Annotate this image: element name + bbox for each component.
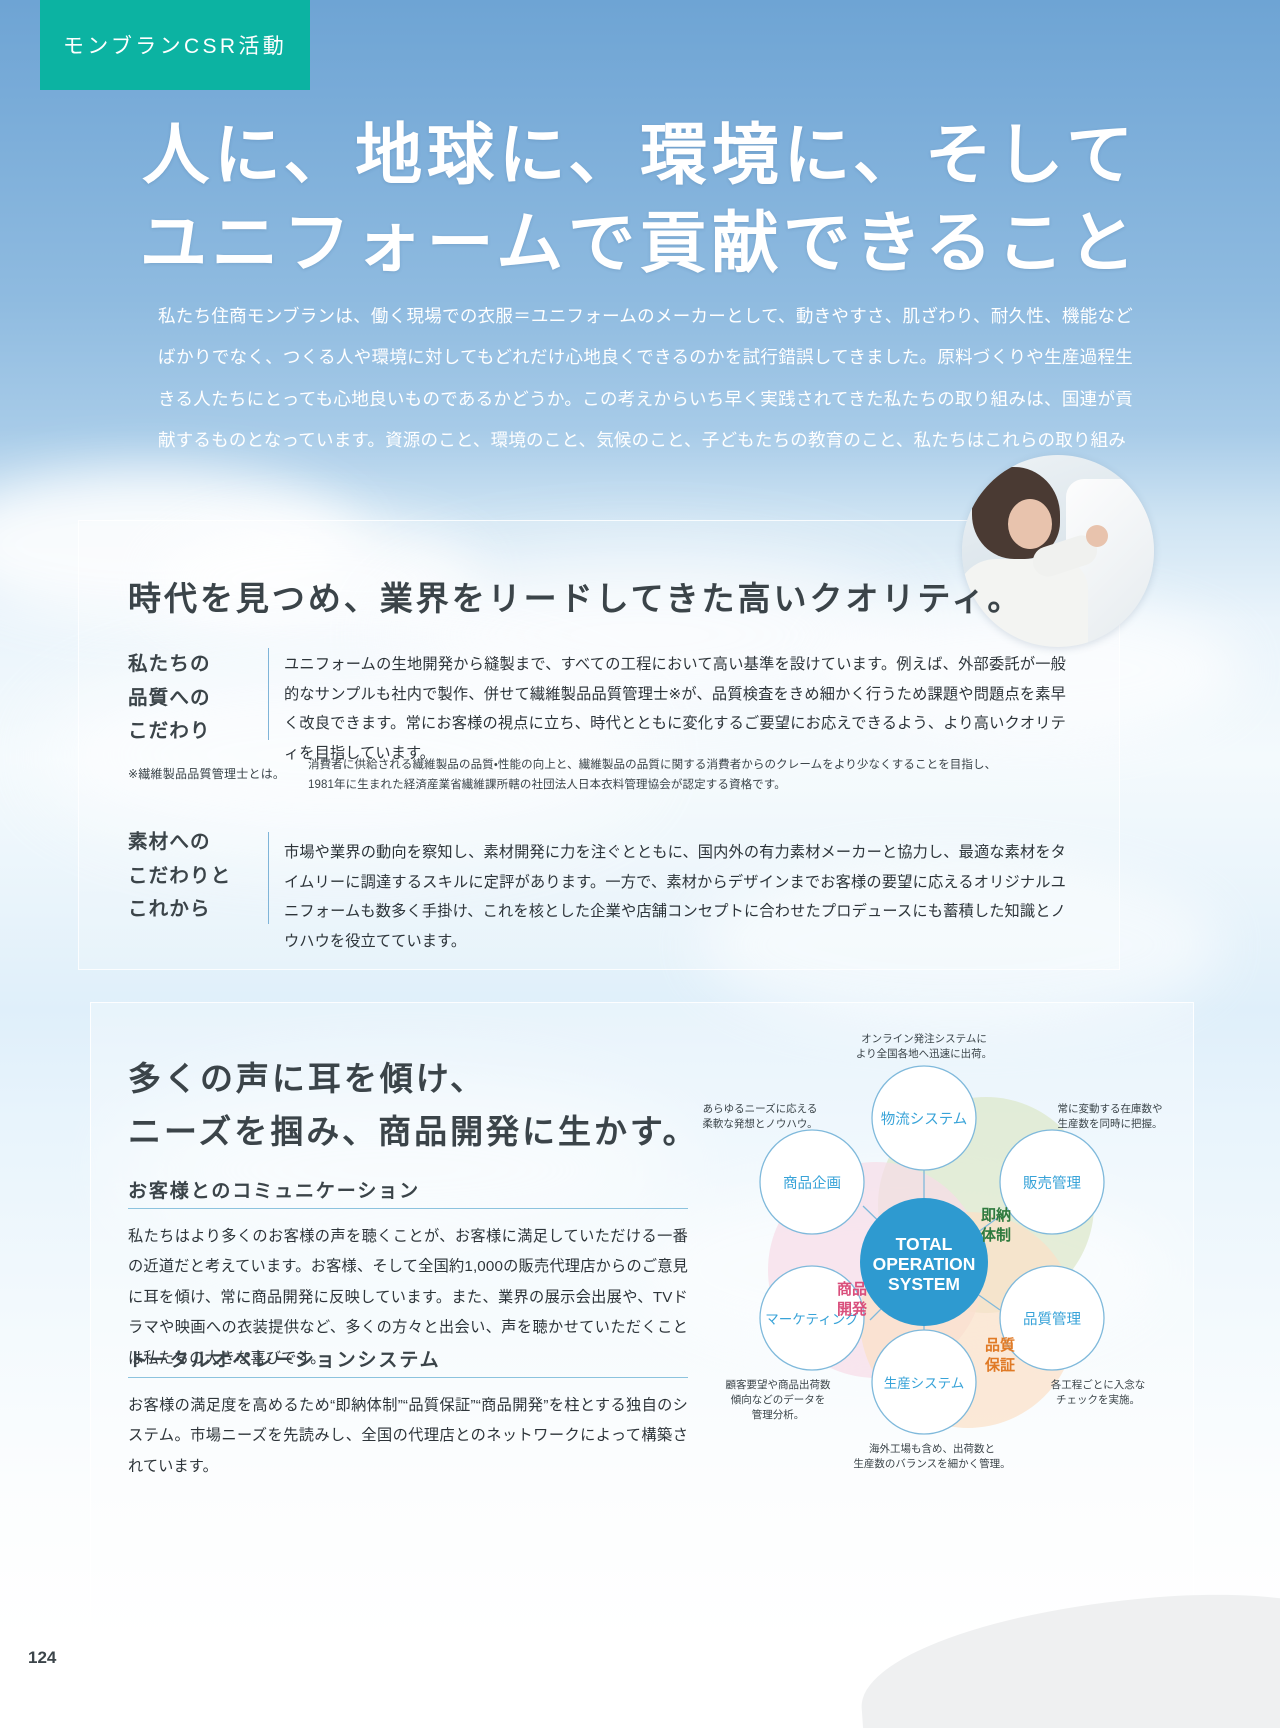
node-sales-management-label: 販売管理 bbox=[1023, 1174, 1081, 1192]
caption-production-line2: 生産数のバランスを細かく管理。 bbox=[853, 1457, 1010, 1470]
caption-logistics-line2: より全国各地へ迅速に出荷。 bbox=[856, 1047, 992, 1060]
voice-heading-line2: ニーズを掴み、商品開発に生かす。 bbox=[128, 1113, 699, 1150]
intro-paragraph: 私たち住商モンブランは、働く現場での衣服＝ユニフォームのメーカーとして、動きやす… bbox=[158, 296, 1133, 461]
pillar-quality-assurance-line1: 品質 bbox=[985, 1336, 1015, 1354]
csr-badge: モンブランCSR活動 bbox=[40, 0, 310, 90]
center-label-line1: TOTAL bbox=[896, 1234, 953, 1254]
caption-planning-line1: あらゆるニーズに応える bbox=[703, 1102, 818, 1115]
voice-section-title-2: トータルオペレーションシステム bbox=[128, 1345, 441, 1372]
quality-side-heading-2: 素材への こだわりと これから bbox=[128, 826, 258, 927]
footnote-label: ※繊維製品品質管理士とは。 bbox=[128, 765, 285, 782]
center-label-line3: SYSTEM bbox=[888, 1274, 960, 1294]
caption-production-line1: 海外工場も含め、出荷数と bbox=[869, 1442, 995, 1455]
pillar-quality-assurance-line2: 保証 bbox=[984, 1356, 1015, 1374]
node-production-system-label: 生産システム bbox=[884, 1376, 965, 1391]
quality-rule-1 bbox=[268, 648, 269, 740]
voice-heading-line1: 多くの声に耳を傾け、 bbox=[128, 1060, 486, 1097]
face-shape bbox=[1008, 499, 1052, 549]
quality-heading: 時代を見つめ、業界をリードしてきた高いクオリティ。 bbox=[128, 572, 1023, 620]
page-title: 人に、地球に、環境に、そして ユニフォームで貢献できること bbox=[0, 112, 1280, 289]
caption-marketing-line1: 顧客要望や商品出荷数 bbox=[726, 1378, 831, 1391]
page-title-line2: ユニフォームで貢献できること bbox=[0, 200, 1280, 288]
pillar-fast-delivery-line1: 即納 bbox=[981, 1206, 1011, 1224]
total-operation-system-diagram: TOTAL OPERATION SYSTEM 物流システム 商品企画 販売管理 … bbox=[700, 1020, 1180, 1480]
quality-rule-2 bbox=[268, 832, 269, 924]
quality-side-heading-1: 私たちの 品質への こだわり bbox=[128, 648, 258, 749]
caption-marketing-line2: 傾向などのデータを bbox=[731, 1393, 826, 1406]
node-logistics-label: 物流システム bbox=[881, 1111, 968, 1128]
caption-marketing-line3: 管理分析。 bbox=[752, 1408, 805, 1421]
caption-quality-line2: チェックを実施。 bbox=[1056, 1393, 1140, 1406]
caption-logistics-line1: オンライン発注システムに bbox=[861, 1032, 987, 1045]
caption-sales-line2: 生産数を同時に把握。 bbox=[1058, 1117, 1163, 1130]
caption-sales-line1: 常に変動する在庫数や bbox=[1058, 1102, 1163, 1115]
page-title-line1: 人に、地球に、環境に、そして bbox=[142, 118, 1138, 193]
caption-quality-line1: 各工程ごとに入念な bbox=[1051, 1378, 1146, 1391]
csr-badge-label: モンブランCSR活動 bbox=[63, 30, 287, 60]
voice-section-rule-2 bbox=[128, 1377, 688, 1378]
voice-section-rule-1 bbox=[128, 1208, 688, 1209]
voice-section-title-1: お客様とのコミュニケーション bbox=[128, 1176, 420, 1203]
page-root: モンブランCSR活動 人に、地球に、環境に、そして ユニフォームで貢献できること… bbox=[0, 0, 1280, 1728]
page-number: 124 bbox=[28, 1648, 56, 1668]
pillar-product-development-line2: 開発 bbox=[837, 1300, 868, 1318]
voice-section-body-2: お客様の満足度を高めるため“即納体制”“品質保証”“商品開発”を柱とする独自のシ… bbox=[128, 1391, 688, 1482]
pillar-fast-delivery-line2: 体制 bbox=[981, 1226, 1011, 1244]
hand-shape bbox=[1086, 525, 1108, 547]
quality-body-2: 市場や業界の動向を察知し、素材開発に力を注ぐとともに、国内外の有力素材メーカーと… bbox=[284, 838, 1066, 957]
caption-planning-line2: 柔軟な発想とノウハウ。 bbox=[702, 1117, 817, 1130]
node-quality-control-label: 品質管理 bbox=[1023, 1310, 1081, 1328]
center-label-line2: OPERATION bbox=[873, 1254, 976, 1274]
pillar-product-development-line1: 商品 bbox=[837, 1280, 867, 1298]
voice-heading: 多くの声に耳を傾け、 ニーズを掴み、商品開発に生かす。 bbox=[128, 1052, 699, 1159]
node-product-planning-label: 商品企画 bbox=[783, 1175, 841, 1192]
footnote-body: 消費者に供給される繊維製品の品質・性能の向上と、繊維製品の品質に関する消費者から… bbox=[308, 756, 1098, 796]
quality-body-1: ユニフォームの生地開発から縫製まで、すべての工程において高い基準を設けています。… bbox=[284, 650, 1066, 769]
